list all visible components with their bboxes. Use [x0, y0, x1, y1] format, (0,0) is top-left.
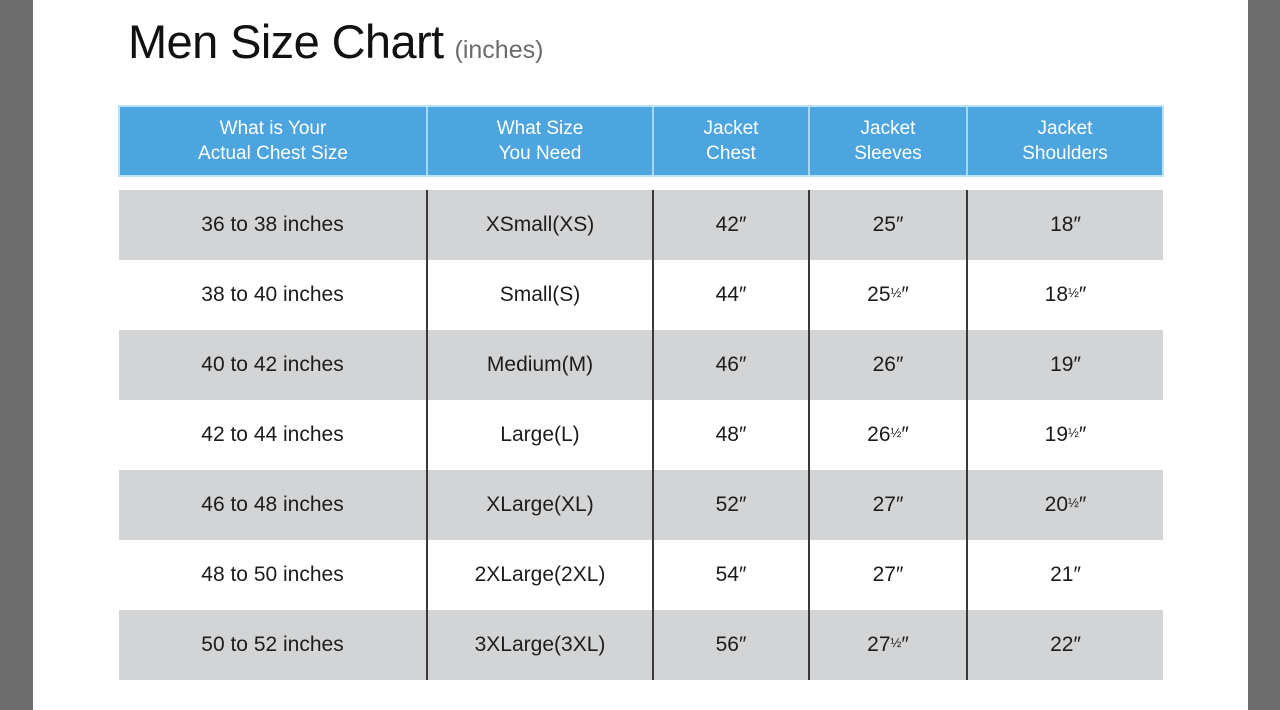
cell-jacket-sleeves: 26½″: [809, 400, 967, 470]
header-row: What is Your Actual Chest Size What Size…: [119, 106, 1163, 176]
fraction-half: ½: [1068, 425, 1079, 440]
cell-jacket-chest: 46″: [653, 330, 809, 400]
letterbox-right: [1248, 0, 1280, 710]
cell-jacket-chest: 56″: [653, 610, 809, 680]
cell-jacket-chest: 42″: [653, 190, 809, 260]
column-header-size-you-need: What Size You Need: [427, 106, 653, 176]
cell-actual-chest-size: 36 to 38 inches: [119, 190, 427, 260]
table-row: 48 to 50 inches2XLarge(2XL)54″27″21″: [119, 540, 1163, 610]
cell-actual-chest-size: 48 to 50 inches: [119, 540, 427, 610]
cell-size-you-need: 3XLarge(3XL): [427, 610, 653, 680]
header-line-2: You Need: [434, 141, 646, 166]
header-line-1: What Size: [434, 116, 646, 141]
cell-jacket-sleeves: 26″: [809, 330, 967, 400]
header-line-2: Sleeves: [816, 141, 960, 166]
inch-mark: ″: [901, 283, 908, 306]
cell-jacket-sleeves: 25″: [809, 190, 967, 260]
header-line-1: Jacket: [816, 116, 960, 141]
cell-jacket-shoulders: 19½″: [967, 400, 1163, 470]
page-title-units: (inches): [455, 38, 544, 63]
cell-actual-chest-size: 50 to 52 inches: [119, 610, 427, 680]
inch-mark: ″: [1073, 353, 1080, 376]
column-header-jacket-shoulders: Jacket Shoulders: [967, 106, 1163, 176]
inch-mark: ″: [739, 353, 746, 376]
inch-mark: ″: [739, 423, 746, 446]
fraction-half: ½: [891, 285, 902, 300]
cell-jacket-shoulders: 18½″: [967, 260, 1163, 330]
inch-mark: ″: [1073, 563, 1080, 586]
inch-mark: ″: [901, 423, 908, 446]
table-header: What is Your Actual Chest Size What Size…: [119, 106, 1163, 176]
inch-mark: ″: [739, 493, 746, 516]
cell-jacket-chest: 48″: [653, 400, 809, 470]
cell-jacket-shoulders: 19″: [967, 330, 1163, 400]
inch-mark: ″: [739, 283, 746, 306]
header-body-gap-cell: [119, 176, 1163, 190]
table-body: 36 to 38 inchesXSmall(XS)42″25″18″38 to …: [119, 176, 1163, 680]
inch-mark: ″: [1079, 283, 1086, 306]
cell-size-you-need: Small(S): [427, 260, 653, 330]
inch-mark: ″: [896, 563, 903, 586]
column-header-actual-chest-size: What is Your Actual Chest Size: [119, 106, 427, 176]
cell-jacket-shoulders: 18″: [967, 190, 1163, 260]
inch-mark: ″: [896, 493, 903, 516]
table-row: 50 to 52 inches3XLarge(3XL)56″27½″22″: [119, 610, 1163, 680]
fraction-half: ½: [1068, 495, 1079, 510]
cell-size-you-need: Large(L): [427, 400, 653, 470]
cell-actual-chest-size: 40 to 42 inches: [119, 330, 427, 400]
header-line-1: Jacket: [660, 116, 802, 141]
cell-size-you-need: XSmall(XS): [427, 190, 653, 260]
page-title: Men Size Chart (inches): [128, 18, 543, 65]
cell-actual-chest-size: 42 to 44 inches: [119, 400, 427, 470]
fraction-half: ½: [891, 425, 902, 440]
cell-jacket-shoulders: 20½″: [967, 470, 1163, 540]
header-line-1: Jacket: [974, 116, 1156, 141]
cell-size-you-need: XLarge(XL): [427, 470, 653, 540]
table-row: 36 to 38 inchesXSmall(XS)42″25″18″: [119, 190, 1163, 260]
inch-mark: ″: [1079, 493, 1086, 516]
table-row: 46 to 48 inchesXLarge(XL)52″27″20½″: [119, 470, 1163, 540]
column-header-jacket-sleeves: Jacket Sleeves: [809, 106, 967, 176]
cell-size-you-need: 2XLarge(2XL): [427, 540, 653, 610]
fraction-half: ½: [891, 635, 902, 650]
inch-mark: ″: [1073, 213, 1080, 236]
cell-jacket-chest: 54″: [653, 540, 809, 610]
cell-actual-chest-size: 38 to 40 inches: [119, 260, 427, 330]
inch-mark: ″: [739, 563, 746, 586]
cell-jacket-chest: 44″: [653, 260, 809, 330]
inch-mark: ″: [901, 633, 908, 656]
cell-jacket-sleeves: 25½″: [809, 260, 967, 330]
page-canvas: Men Size Chart (inches) What is Your Act…: [33, 0, 1248, 710]
inch-mark: ″: [896, 213, 903, 236]
page-title-main: Men Size Chart: [128, 18, 444, 65]
table-row: 40 to 42 inchesMedium(M)46″26″19″: [119, 330, 1163, 400]
table-row: 42 to 44 inchesLarge(L)48″26½″19½″: [119, 400, 1163, 470]
column-header-jacket-chest: Jacket Chest: [653, 106, 809, 176]
table-row: 38 to 40 inchesSmall(S)44″25½″18½″: [119, 260, 1163, 330]
inch-mark: ″: [896, 353, 903, 376]
cell-size-you-need: Medium(M): [427, 330, 653, 400]
header-line-2: Shoulders: [974, 141, 1156, 166]
cell-jacket-sleeves: 27″: [809, 540, 967, 610]
fraction-half: ½: [1068, 285, 1079, 300]
inch-mark: ″: [739, 633, 746, 656]
header-line-2: Chest: [660, 141, 802, 166]
header-line-1: What is Your: [126, 116, 420, 141]
cell-jacket-sleeves: 27½″: [809, 610, 967, 680]
letterbox-left: [0, 0, 33, 710]
cell-jacket-sleeves: 27″: [809, 470, 967, 540]
header-body-gap: [119, 176, 1163, 190]
size-chart-table: What is Your Actual Chest Size What Size…: [118, 105, 1164, 680]
cell-jacket-shoulders: 21″: [967, 540, 1163, 610]
inch-mark: ″: [739, 213, 746, 236]
inch-mark: ″: [1079, 423, 1086, 446]
cell-jacket-shoulders: 22″: [967, 610, 1163, 680]
cell-jacket-chest: 52″: [653, 470, 809, 540]
cell-actual-chest-size: 46 to 48 inches: [119, 470, 427, 540]
header-line-2: Actual Chest Size: [126, 141, 420, 166]
inch-mark: ″: [1073, 633, 1080, 656]
